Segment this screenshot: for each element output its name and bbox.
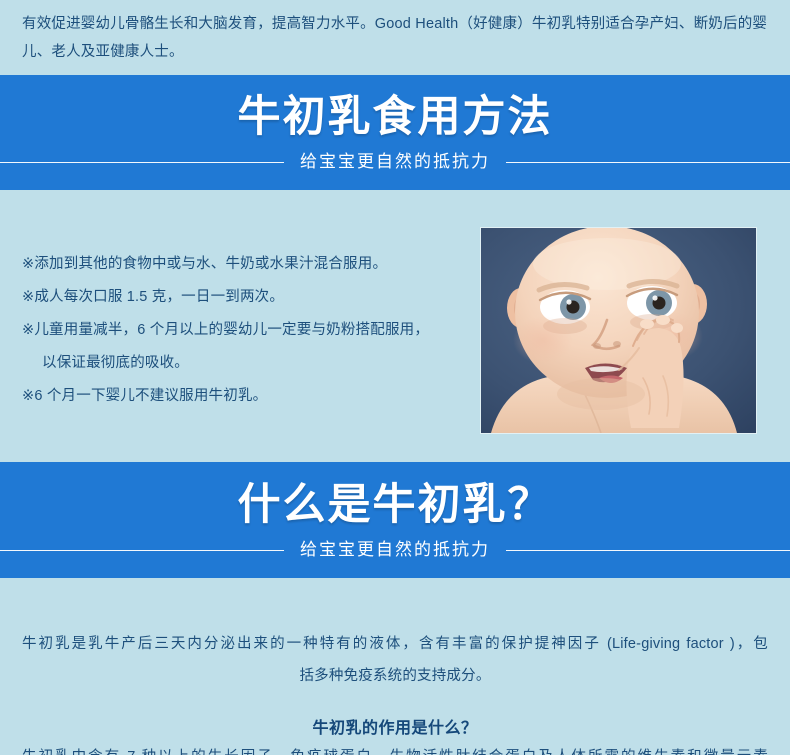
banner-rule-right xyxy=(506,550,790,551)
banner-what-title: 什么是牛初乳？ xyxy=(0,480,790,530)
usage-item: ※6 个月一下婴儿不建议服用牛初乳。 xyxy=(22,380,467,413)
baby-photo xyxy=(481,228,756,433)
banner-rule-left xyxy=(0,162,284,163)
definition-line: 牛初乳是乳牛产后三天内分泌出来的一种特有的液体，含有丰富的保护提神因子 (Lif… xyxy=(22,628,768,660)
definition-paragraph: 牛初乳是乳牛产后三天内分泌出来的一种特有的液体，含有丰富的保护提神因子 (Lif… xyxy=(22,628,768,692)
usage-instruction-list: ※添加到其他的食物中或与水、牛奶或水果汁混合服用。 ※成人每次口服 1.5 克，… xyxy=(22,248,467,413)
usage-item: ※添加到其他的食物中或与水、牛奶或水果汁混合服用。 xyxy=(22,248,467,281)
banner-rule-left xyxy=(0,550,284,551)
banner-what-subtitle: 给宝宝更自然的抵抗力 xyxy=(284,539,506,561)
usage-item: ※儿童用量减半，6 个月以上的婴幼儿一定要与奶粉搭配服用， xyxy=(22,314,467,347)
definition-line: 括多种免疫系统的支持成分。 xyxy=(22,660,768,692)
effect-heading: 牛初乳的作用是什么？ xyxy=(0,714,790,738)
product-detail-page: 有效促进婴幼儿骨骼生长和大脑发育，提高智力水平。Good Health（好健康）… xyxy=(0,0,790,755)
section-banner-what-is: 什么是牛初乳？ 给宝宝更自然的抵抗力 xyxy=(0,462,790,578)
section-banner-usage: 牛初乳食用方法 给宝宝更自然的抵抗力 xyxy=(0,75,790,190)
baby-photo-illustration xyxy=(481,228,756,433)
banner-rule-right xyxy=(506,162,790,163)
banner-usage-title: 牛初乳食用方法 xyxy=(0,92,790,142)
usage-item: ※成人每次口服 1.5 克，一日一到两次。 xyxy=(22,281,467,314)
banner-usage-subtitle-row: 给宝宝更自然的抵抗力 xyxy=(0,151,790,173)
effect-paragraph: 牛初乳中含有 7 种以上的生长因子、免疫球蛋白、生物活性肽结合蛋白及人体所需的维… xyxy=(22,742,768,755)
usage-item-continuation: 以保证最彻底的吸收。 xyxy=(22,347,467,380)
banner-usage-subtitle: 给宝宝更自然的抵抗力 xyxy=(284,151,506,173)
banner-what-subtitle-row: 给宝宝更自然的抵抗力 xyxy=(0,539,790,561)
intro-paragraph: 有效促进婴幼儿骨骼生长和大脑发育，提高智力水平。Good Health（好健康）… xyxy=(0,0,790,66)
